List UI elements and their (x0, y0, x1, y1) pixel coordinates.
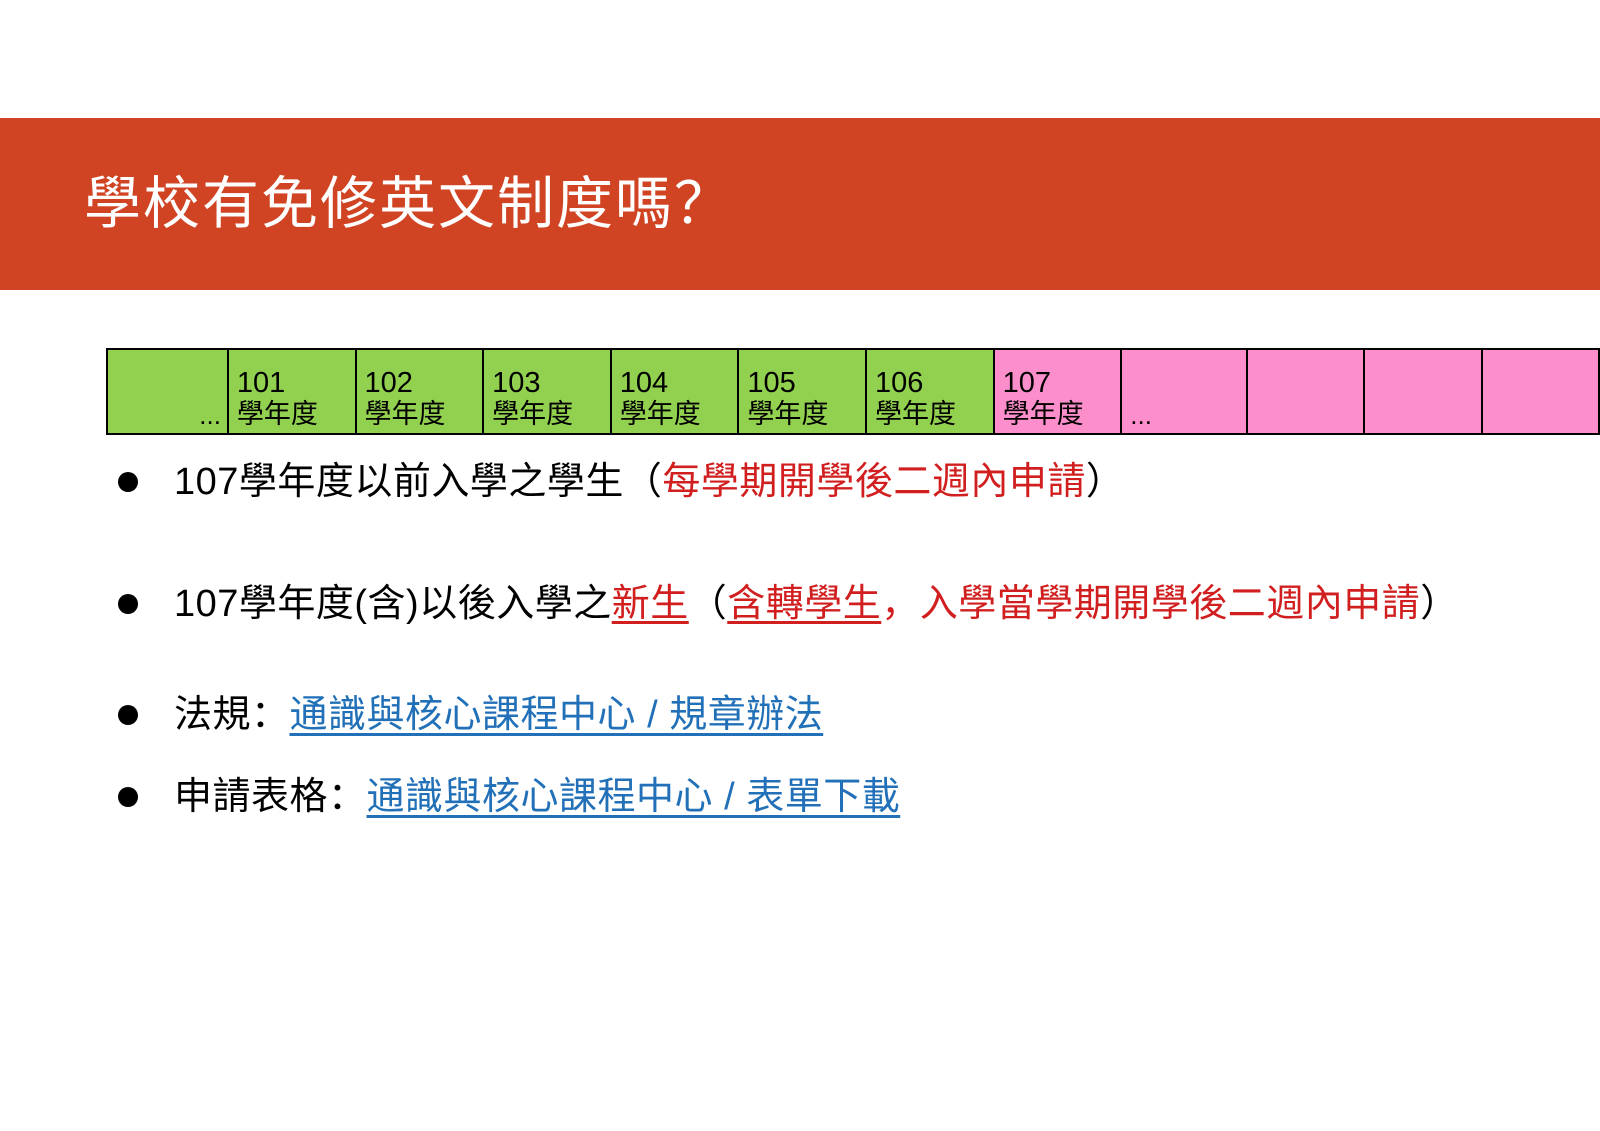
year-number: 105 (747, 367, 859, 400)
application-form-link[interactable]: 通識與核心課程中心 / 表單下載 (367, 776, 901, 818)
year-number: 103 (492, 367, 604, 400)
bullet-3-text: 法規：通識與核心課程中心 / 規章辦法 (174, 685, 1518, 747)
year-unit: 學年度 (365, 400, 477, 430)
year-number: 104 (620, 367, 732, 400)
timeline-cell-102: 102 學年度 (356, 349, 484, 434)
empty-label (1491, 428, 1592, 430)
regulations-label: 法規： (174, 694, 290, 736)
year-unit: 學年度 (492, 400, 604, 430)
empty-label (1256, 428, 1357, 430)
table-row: ... 101 學年度 102 學年度 103 學年度 104 學年度 (107, 349, 1599, 434)
list-item: 107學年度以前入學之學生（每學期開學後二週內申請） (118, 452, 1518, 514)
timeline-cell-leading-ellipsis: ... (107, 349, 228, 434)
bullet-2-red-rest: ，入學當學期開學後二週內申請 (881, 583, 1420, 625)
bullet-1-black-after: ） (1086, 461, 1125, 503)
bullet-dot-icon (118, 472, 138, 492)
bullet-dot-icon (118, 594, 138, 614)
timeline-cell-empty-2 (1364, 349, 1481, 434)
timeline-table: ... 101 學年度 102 學年度 103 學年度 104 學年度 (106, 348, 1600, 435)
year-number: 102 (365, 367, 477, 400)
bullet-4-text: 申請表格：通識與核心課程中心 / 表單下載 (174, 767, 1518, 829)
list-item: 107學年度(含)以後入學之新生（含轉學生，入學當學期開學後二週內申請） (118, 574, 1518, 636)
ellipsis-label: ... (116, 402, 221, 430)
application-form-label: 申請表格： (174, 776, 367, 818)
year-unit: 學年度 (747, 400, 859, 430)
empty-label (1373, 428, 1474, 430)
year-unit: 學年度 (875, 400, 987, 430)
bullet-1-text: 107學年度以前入學之學生（每學期開學後二週內申請） (174, 452, 1518, 514)
list-item: 法規：通識與核心課程中心 / 規章辦法 (118, 685, 1518, 747)
timeline-cell-empty-1 (1247, 349, 1364, 434)
year-number: 106 (875, 367, 987, 400)
page-title: 學校有免修英文制度嗎？ (84, 173, 733, 236)
bullet-dot-icon (118, 705, 138, 725)
ellipsis-label: ... (1130, 402, 1240, 430)
regulations-link[interactable]: 通識與核心課程中心 / 規章辦法 (290, 694, 824, 736)
bullet-2-black-before: 107學年度(含)以後入學之 (174, 583, 612, 625)
timeline-cell-103: 103 學年度 (483, 349, 611, 434)
list-item: 申請表格：通識與核心課程中心 / 表單下載 (118, 767, 1518, 829)
academic-year-timeline: ... 101 學年度 102 學年度 103 學年度 104 學年度 (106, 348, 1600, 435)
timeline-cell-106: 106 學年度 (866, 349, 994, 434)
bullet-dot-icon (118, 787, 138, 807)
timeline-cell-101: 101 學年度 (228, 349, 356, 434)
bullet-1-black-before: 107學年度以前入學之學生（ (174, 461, 662, 503)
year-unit: 學年度 (1003, 400, 1115, 430)
year-unit: 學年度 (620, 400, 732, 430)
year-unit: 學年度 (237, 400, 349, 430)
bullet-2-black-after: ） (1420, 583, 1459, 625)
timeline-cell-105: 105 學年度 (738, 349, 866, 434)
timeline-cell-104: 104 學年度 (611, 349, 739, 434)
year-number: 107 (1003, 367, 1115, 400)
bullet-2-text: 107學年度(含)以後入學之新生（含轉學生，入學當學期開學後二週內申請） (174, 574, 1518, 636)
bullet-2-black-mid: （ (689, 583, 728, 625)
bullet-2-red-underline-newstudent: 新生 (612, 583, 689, 625)
timeline-cell-empty-3 (1482, 349, 1599, 434)
bullet-1-red-emphasis: 每學期開學後二週內申請 (662, 461, 1086, 503)
timeline-cell-trailing-ellipsis: ... (1121, 349, 1247, 434)
bullet-2-red-underline-transfer: 含轉學生 (727, 583, 881, 625)
year-number: 101 (237, 367, 349, 400)
timeline-cell-107: 107 學年度 (994, 349, 1122, 434)
title-banner: 學校有免修英文制度嗎？ (0, 118, 1600, 290)
bullet-list: 107學年度以前入學之學生（每學期開學後二週內申請） 107學年度(含)以後入學… (118, 452, 1518, 828)
